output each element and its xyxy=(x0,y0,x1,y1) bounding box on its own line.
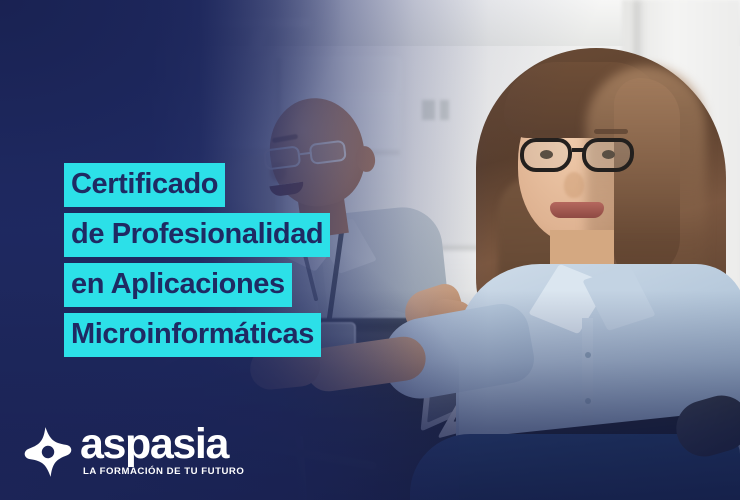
headline-line-1: Certificado xyxy=(64,163,225,207)
logo-wordmark: aspasia xyxy=(80,424,244,465)
headline: Certificado de Profesionalidad en Aplica… xyxy=(64,163,494,357)
headline-line-4: Microinformáticas xyxy=(64,313,321,357)
logo-text-block: aspasia LA FORMACIÓN DE TU FUTURO xyxy=(80,424,244,477)
logo-tagline: LA FORMACIÓN DE TU FUTURO xyxy=(80,466,244,477)
headline-line-2: de Profesionalidad xyxy=(64,213,330,257)
aspasia-logo[interactable]: aspasia LA FORMACIÓN DE TU FUTURO xyxy=(22,424,244,478)
four-point-star-icon xyxy=(22,426,74,478)
promo-banner: Certificado de Profesionalidad en Aplica… xyxy=(0,0,740,500)
headline-line-3: en Aplicaciones xyxy=(64,263,292,307)
